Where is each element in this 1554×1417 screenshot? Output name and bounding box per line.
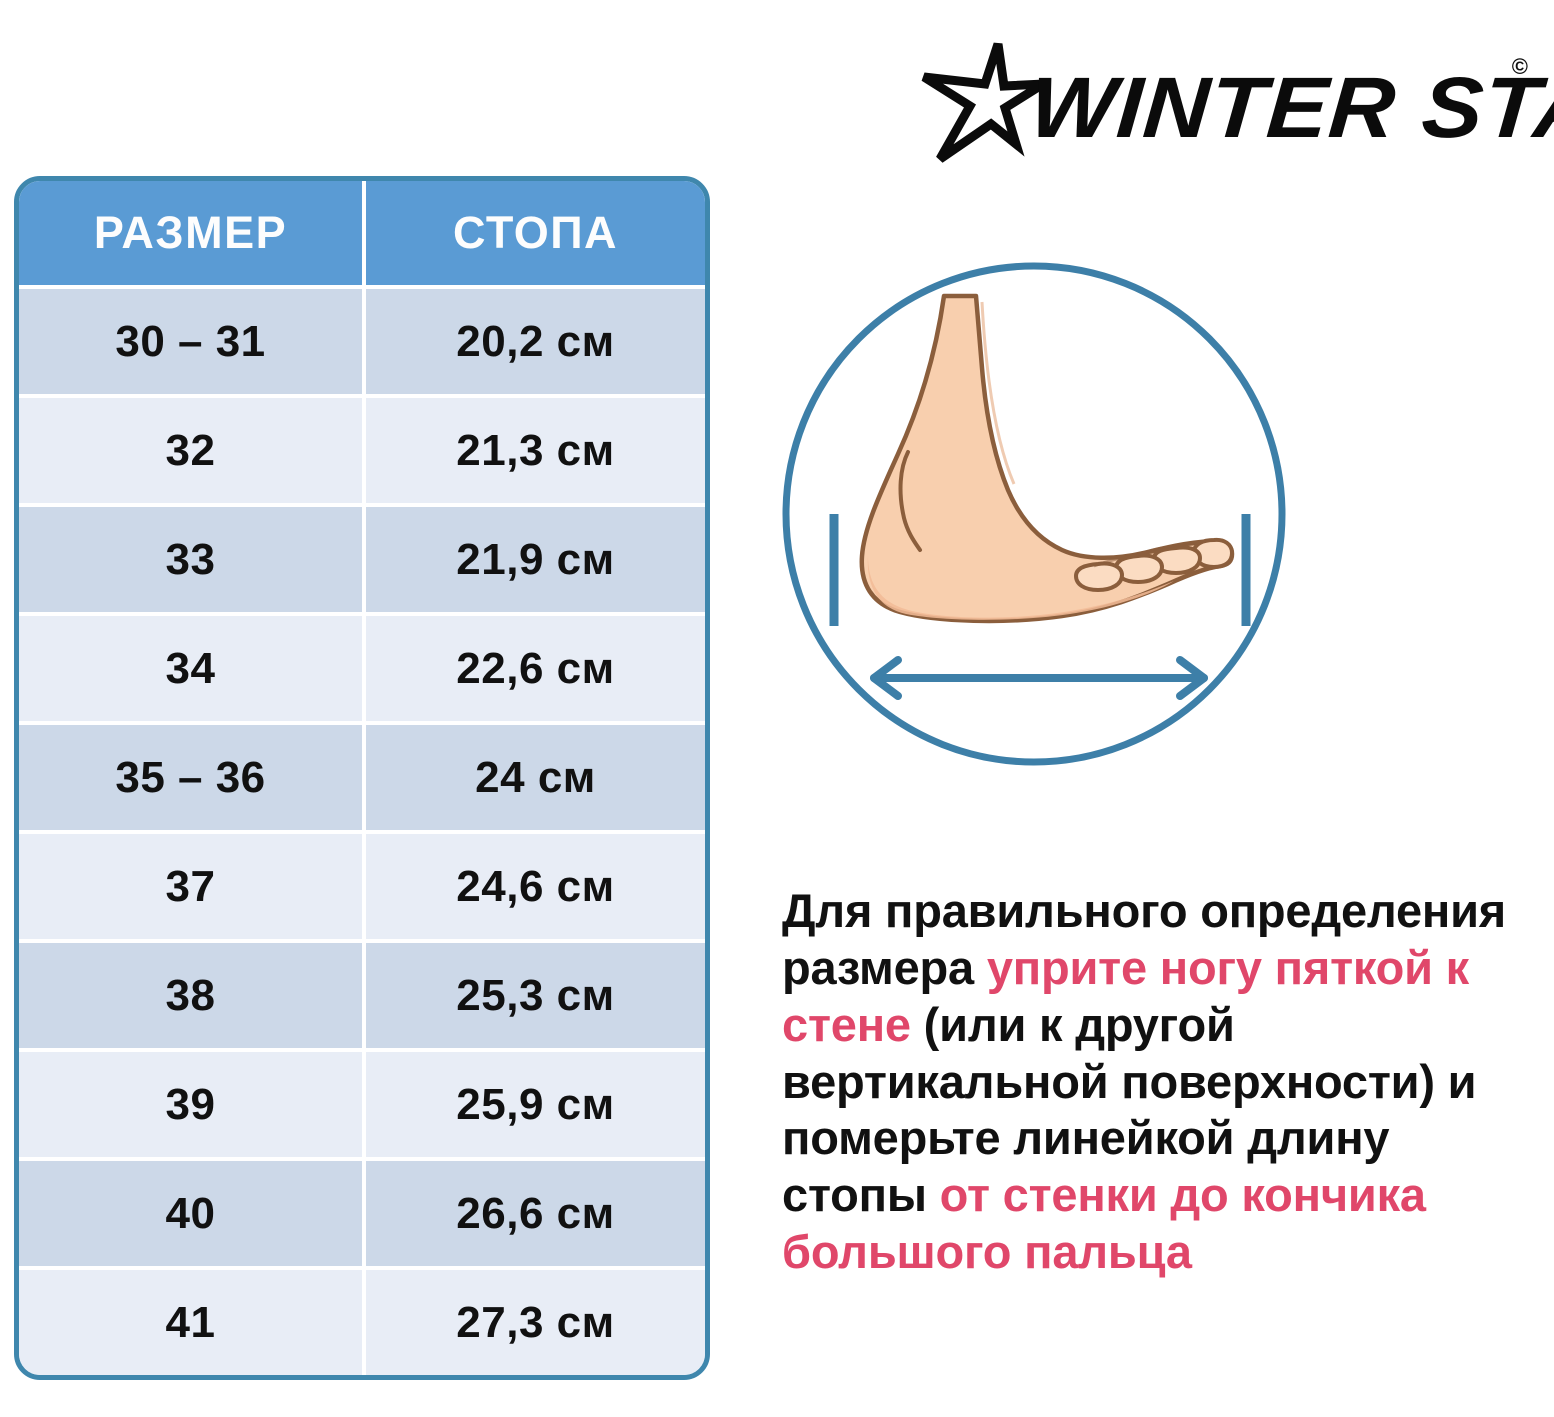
column-header-foot: СТОПА xyxy=(366,181,705,285)
cell-size: 41 xyxy=(19,1270,366,1375)
table-row: 30 – 31 20,2 см xyxy=(19,285,705,394)
table-row: 35 – 36 24 см xyxy=(19,721,705,830)
table-header-row: РАЗМЕР СТОПА xyxy=(19,181,705,285)
cell-size: 39 xyxy=(19,1052,366,1157)
star-outline-icon xyxy=(912,40,1044,164)
size-chart-table: РАЗМЕР СТОПА 30 – 31 20,2 см 32 21,3 см … xyxy=(14,176,710,1380)
cell-foot: 24,6 см xyxy=(366,834,705,939)
table-row: 33 21,9 см xyxy=(19,503,705,612)
cell-size: 37 xyxy=(19,834,366,939)
cell-size: 38 xyxy=(19,943,366,1048)
measurement-instructions: Для правильного определения размера упри… xyxy=(782,883,1538,1281)
table-row: 41 27,3 см xyxy=(19,1266,705,1375)
cell-foot: 20,2 см xyxy=(366,289,705,394)
cell-foot: 21,9 см xyxy=(366,507,705,612)
double-arrow-horizontal-icon xyxy=(874,660,1204,696)
cell-size: 34 xyxy=(19,616,366,721)
cell-foot: 27,3 см xyxy=(366,1270,705,1375)
registered-mark: © xyxy=(1512,54,1528,80)
cell-size: 33 xyxy=(19,507,366,612)
cell-size: 40 xyxy=(19,1161,366,1266)
table-row: 37 24,6 см xyxy=(19,830,705,939)
table-row: 32 21,3 см xyxy=(19,394,705,503)
table-row: 40 26,6 см xyxy=(19,1157,705,1266)
cell-size: 32 xyxy=(19,398,366,503)
cell-foot: 21,3 см xyxy=(366,398,705,503)
foot-measurement-diagram xyxy=(776,256,1292,772)
table-row: 34 22,6 см xyxy=(19,612,705,721)
circle-outline-icon xyxy=(786,266,1282,762)
cell-foot: 25,9 см xyxy=(366,1052,705,1157)
brand-logo: WINTER STAR © xyxy=(912,34,1532,166)
column-header-size: РАЗМЕР xyxy=(19,181,366,285)
cell-size: 35 – 36 xyxy=(19,725,366,830)
foot-side-view-icon xyxy=(860,294,1232,634)
cell-size: 30 – 31 xyxy=(19,289,366,394)
cell-foot: 25,3 см xyxy=(366,943,705,1048)
cell-foot: 26,6 см xyxy=(366,1161,705,1266)
table-row: 39 25,9 см xyxy=(19,1048,705,1157)
cell-foot: 22,6 см xyxy=(366,616,705,721)
table-row: 38 25,3 см xyxy=(19,939,705,1048)
brand-wordmark: WINTER STAR xyxy=(1027,65,1554,151)
cell-foot: 24 см xyxy=(366,725,705,830)
brand-name: WINTER STAR xyxy=(1026,60,1554,156)
